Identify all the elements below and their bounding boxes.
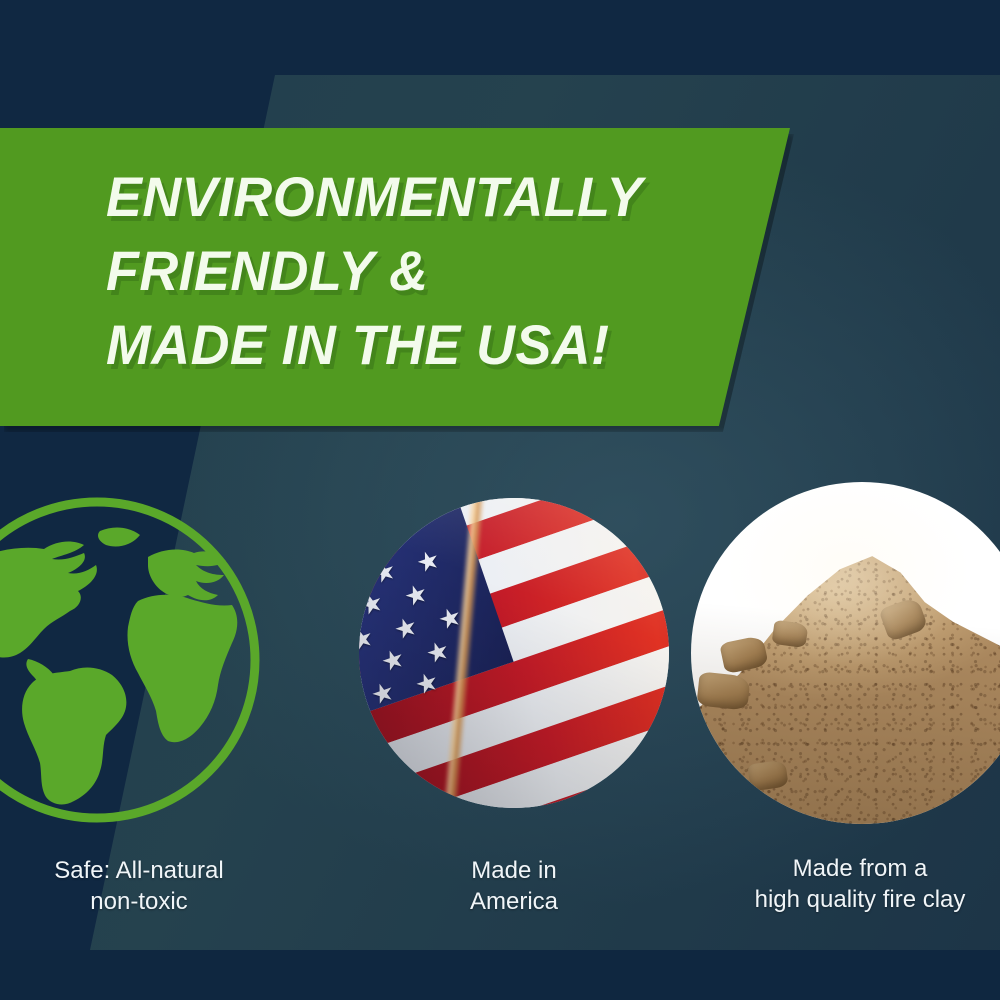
- feature-caption-fire-clay: Made from a high quality fire clay: [665, 853, 1000, 915]
- clay-lighting-overlay: [691, 482, 1000, 824]
- globe-icon-graphic: [0, 495, 262, 825]
- fire-clay-photo: [691, 482, 1000, 824]
- feature-item-safe: Safe: All-natural non-toxic: [0, 470, 272, 930]
- globe-icon: [0, 495, 262, 825]
- clay-photo-inner: [691, 482, 1000, 824]
- headline-text: ENVIRONMENTALLY FRIENDLY & MADE IN THE U…: [106, 160, 730, 382]
- american-flag-photo: ★ ★ ★ ★ ★ ★ ★ ★ ★ ★ ★ ★ ★: [359, 498, 669, 808]
- feature-row: Safe: All-natural non-toxic: [0, 470, 1000, 930]
- flag-lighting-overlay: [359, 498, 669, 808]
- feature-caption-safe: Safe: All-natural non-toxic: [0, 855, 284, 917]
- promo-poster: ENVIRONMENTALLY FRIENDLY & MADE IN THE U…: [0, 0, 1000, 1000]
- bottom-strip: [0, 950, 1000, 1000]
- feature-caption-made-in-america: Made in America: [359, 855, 669, 917]
- feature-item-made-in-america: ★ ★ ★ ★ ★ ★ ★ ★ ★ ★ ★ ★ ★: [325, 470, 665, 930]
- feature-item-fire-clay: Made from a high quality fire clay: [655, 470, 995, 930]
- flag-photo-inner: ★ ★ ★ ★ ★ ★ ★ ★ ★ ★ ★ ★ ★: [359, 498, 669, 808]
